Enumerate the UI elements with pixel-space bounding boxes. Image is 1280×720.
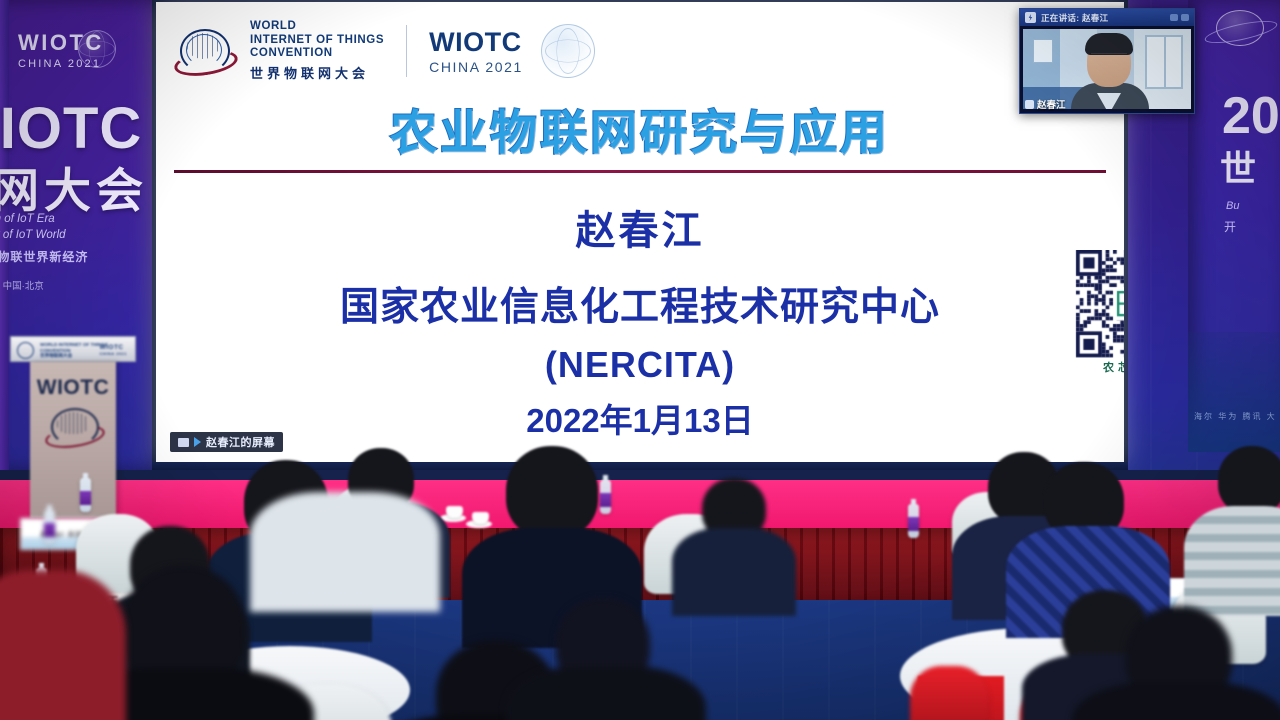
qr-code-block: 农芯科技 bbox=[1068, 250, 1124, 375]
qr-code bbox=[1068, 250, 1124, 358]
wireframe-globe-icon bbox=[78, 30, 116, 68]
water-bottle bbox=[44, 510, 55, 544]
wireframe-globe-icon bbox=[541, 24, 595, 78]
banner-left-tagline-cn: T造物联世界新经济 bbox=[0, 248, 88, 265]
slide-header-en3: CONVENTION bbox=[250, 47, 384, 61]
banner-right: 20 世 Bu 开 海尔 华为 腾讯 大 bbox=[1188, 0, 1280, 452]
banner-right-sponsors: 海尔 华为 腾讯 大 bbox=[1194, 411, 1277, 422]
slide-speaker-name: 赵春江 bbox=[156, 198, 1124, 256]
water-bottle bbox=[908, 504, 919, 538]
wiotc-emblem-icon bbox=[174, 25, 232, 77]
water-bottle bbox=[80, 478, 91, 512]
wiotc-emblem-icon bbox=[45, 406, 101, 446]
slide-title: 农业物联网研究与应用 bbox=[156, 94, 1124, 163]
banner-right-year: 20 bbox=[1222, 86, 1280, 146]
podium-nameplate: WORLD INTERNET OF THINGSCONVENTION世界物联网大… bbox=[10, 336, 136, 362]
slide-title-rule bbox=[174, 170, 1106, 173]
audience-area: Amer Alb 徐珍玉 魏 峥 bbox=[0, 470, 1280, 720]
video-pip-title: 正在讲话: 赵春江 bbox=[1041, 12, 1108, 24]
zoom-app-icon bbox=[1025, 12, 1036, 23]
podium-plate-wordmark: WIOTC CHINA 2021 bbox=[99, 344, 127, 356]
qr-code-caption: 农芯科技 bbox=[1068, 359, 1124, 375]
slide-date: 2022年1月13日 bbox=[156, 394, 1124, 442]
wiotc-emblem-icon bbox=[17, 342, 34, 359]
video-pip-speaker-name: 赵春江 bbox=[1037, 97, 1066, 111]
microphone-icon bbox=[1025, 100, 1034, 109]
video-pip-titlebar: 正在讲话: 赵春江 bbox=[1020, 9, 1194, 26]
slide-body: 赵春江 国家农业信息化工程技术研究中心 (NERCITA) 2022年1月13日 bbox=[156, 198, 1124, 442]
water-bottle bbox=[600, 480, 611, 514]
video-pip-speaker-label: 赵春江 bbox=[1025, 97, 1066, 111]
video-pip-window[interactable]: 正在讲话: 赵春江 赵春江 bbox=[1019, 8, 1195, 114]
screen-share-icon bbox=[178, 438, 189, 447]
podium-plate-en: WORLD INTERNET OF THINGSCONVENTION世界物联网大… bbox=[40, 342, 108, 359]
screen-share-label: 赵春江的屏幕 bbox=[170, 432, 283, 452]
slide-header-text-block: WORLD INTERNET OF THINGS CONVENTION 世界物联… bbox=[250, 20, 384, 82]
slide-organization: 国家农业信息化工程技术研究中心 bbox=[156, 276, 1124, 332]
slide-header-wordmark: WIOTC bbox=[429, 27, 523, 58]
banner-right-tagline-en: Bu bbox=[1226, 200, 1239, 212]
slide-header-divider bbox=[406, 25, 407, 77]
coffee-cup bbox=[472, 512, 489, 524]
window-controls-icon[interactable] bbox=[1170, 14, 1189, 21]
banner-left-tagline-en2: omy of IoT World bbox=[0, 228, 66, 243]
slide-header-en1: WORLD bbox=[250, 20, 384, 34]
slide-header-en2: INTERNET OF THINGS bbox=[250, 34, 384, 48]
slide-header: WORLD INTERNET OF THINGS CONVENTION 世界物联… bbox=[156, 2, 1124, 94]
banner-left-footer: hina 中国·北京 bbox=[0, 278, 44, 292]
slide-header-cn: 世界物联网大会 bbox=[250, 63, 384, 82]
banner-right-lower-strip bbox=[1188, 332, 1280, 452]
chair-red bbox=[910, 666, 988, 720]
arrow-right-icon bbox=[194, 437, 201, 447]
screen-share-text: 赵春江的屏幕 bbox=[206, 434, 275, 450]
slide-org-abbreviation: (NERCITA) bbox=[156, 344, 1124, 386]
coffee-cup bbox=[446, 506, 463, 518]
podium-wordmark: WIOTC bbox=[30, 376, 116, 400]
banner-left-tagline-en1: ttern of IoT Era bbox=[0, 212, 55, 227]
slide-header-wordmark-sub: CHINA 2021 bbox=[429, 59, 523, 75]
slide-header-wordmark-block: WIOTC CHINA 2021 bbox=[429, 27, 523, 75]
banner-right-chinese: 世 bbox=[1220, 140, 1256, 192]
conference-photo-scene: 华 流 地球物联网 WIOTC CHINA 2021 WIOTC 联网大会 tt… bbox=[0, 0, 1280, 720]
projection-screen: WORLD INTERNET OF THINGS CONVENTION 世界物联… bbox=[156, 2, 1124, 464]
banner-right-tagline-cn: 开 bbox=[1224, 218, 1236, 235]
banner-left-big-chinese: 联网大会 bbox=[0, 152, 148, 221]
